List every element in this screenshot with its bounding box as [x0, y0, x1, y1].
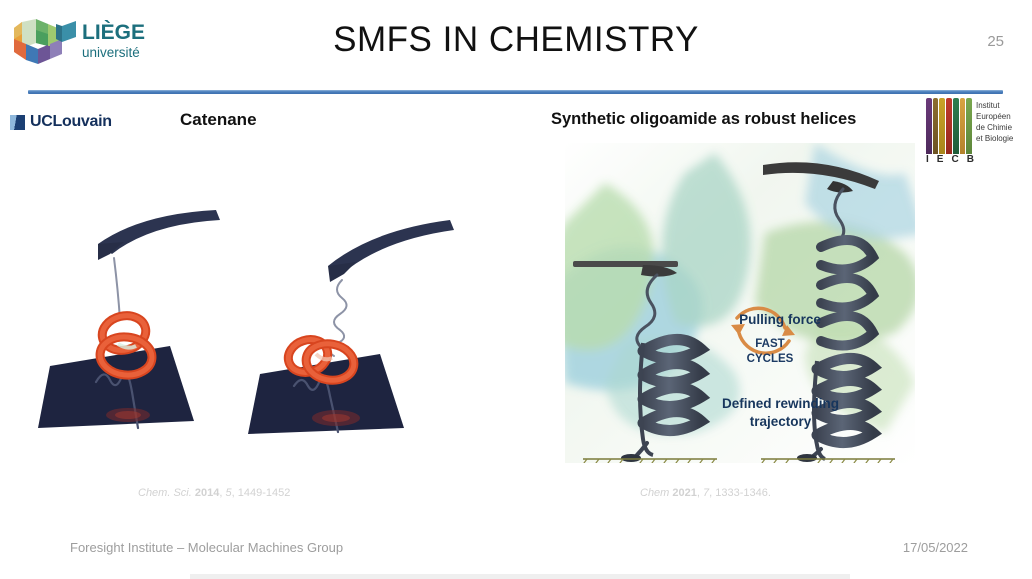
footer-left-text: Foresight Institute – Molecular Machines… [70, 540, 343, 555]
annotation-fast-line1: FAST [735, 337, 805, 352]
right-panel-heading: Synthetic oligoamide as robust helices [551, 110, 856, 129]
surface-anchor-left [621, 454, 641, 462]
left-panel-heading: Catenane [180, 110, 257, 130]
citation-right-journal: Chem [640, 487, 669, 499]
figure-catenane-relaxed [232, 196, 467, 446]
bottom-strip [190, 574, 850, 579]
iecb-logo: Institut Européen de Chimie et Biologie … [926, 98, 1026, 170]
annotation-rewind-line1: Defined rewinding [693, 395, 868, 413]
annotation-fast-cycles: FAST CYCLES [735, 337, 805, 367]
citation-left-journal: Chem. Sci. [138, 487, 192, 499]
annotation-fast-line2: CYCLES [735, 352, 805, 367]
uclouvain-mark-icon [10, 115, 25, 130]
figure-catenane-stretched [32, 196, 262, 446]
annotation-pulling-force: Pulling force [700, 312, 860, 327]
citation-left: Chem. Sci. 2014, 5, 1449-1452 [138, 487, 290, 499]
annotation-defined-rewinding: Defined rewinding trajectory [693, 395, 868, 431]
citation-right: Chem 2021, 7, 1333-1346. [640, 487, 771, 499]
uclouvain-logo: UCLouvain [10, 113, 112, 131]
page-title: SMFS IN CHEMISTRY [0, 20, 1032, 60]
iecb-fullname: Institut Européen de Chimie et Biologie [976, 100, 1013, 144]
iecb-letters: IECB [926, 154, 974, 165]
citation-right-year: 2021 [672, 487, 696, 499]
annotation-rewind-line2: trajectory [693, 413, 868, 431]
afm-cantilever-left [573, 261, 678, 267]
slide: LIÈGE université SMFS IN CHEMISTRY 25 UC… [0, 0, 1032, 579]
uclouvain-wordmark: UCLouvain [30, 113, 112, 131]
citation-left-pages: 1449-1452 [238, 487, 291, 499]
page-number: 25 [987, 33, 1004, 50]
footer-date: 17/05/2022 [903, 540, 968, 555]
citation-left-year: 2014 [195, 487, 219, 499]
header-divider [28, 90, 1003, 94]
polymer-tether [114, 258, 120, 320]
citation-right-pages: 1333-1346. [715, 487, 771, 499]
surface-anchor-right [797, 454, 817, 462]
iecb-bars-icon [926, 98, 972, 154]
